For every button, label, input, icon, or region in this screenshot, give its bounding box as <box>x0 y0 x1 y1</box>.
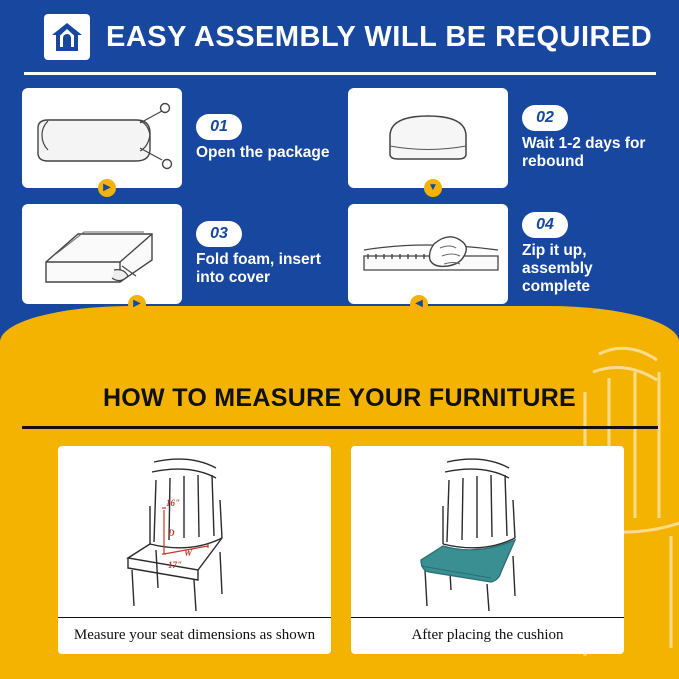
step-04-number: 04 <box>522 212 568 238</box>
step-03-text: 03 Fold foam, insert into cover <box>182 204 332 304</box>
measure-panel-2: After placing the cushion <box>351 446 624 654</box>
step-03-number: 03 <box>196 221 242 247</box>
measure-divider <box>22 426 658 429</box>
assembly-header: EASY ASSEMBLY WILL BE REQUIRED <box>44 14 649 60</box>
step-02-text: 02 Wait 1-2 days for rebound <box>508 88 658 188</box>
step-02-label: Wait 1-2 days for rebound <box>522 135 658 171</box>
step-04: ◀ 04 Zip it up, assembly complete <box>348 204 658 304</box>
infographic-page: EASY ASSEMBLY WILL BE REQUIRED ▶ <box>0 0 679 679</box>
svg-text:D: D <box>167 528 175 538</box>
page-title: EASY ASSEMBLY WILL BE REQUIRED <box>106 21 652 54</box>
step-04-label: Zip it up, assembly complete <box>522 242 658 295</box>
step-01-label: Open the package <box>196 144 332 162</box>
measure-panel-1-art: 16" D W 17" <box>58 446 331 617</box>
header-divider <box>24 72 656 75</box>
step-03-label: Fold foam, insert into cover <box>196 251 332 287</box>
step-01-image: ▶ <box>22 88 182 188</box>
step-02-image: ▼ <box>348 88 508 188</box>
svg-text:W: W <box>184 548 193 558</box>
step-01-number: 01 <box>196 114 242 140</box>
step-01-text: 01 Open the package <box>182 88 332 188</box>
assembly-steps: ▶ 01 Open the package ▼ 02 <box>22 88 658 304</box>
measure-panel-2-art <box>351 446 624 617</box>
step-01-arrow-icon: ▶ <box>98 179 116 197</box>
measure-panel-2-caption: After placing the cushion <box>405 618 569 654</box>
measure-panel-1-caption: Measure your seat dimensions as shown <box>68 618 321 654</box>
step-02-number: 02 <box>522 105 568 131</box>
measure-panels: 16" D W 17" Measure your seat dimensions… <box>58 446 624 654</box>
svg-text:16": 16" <box>166 498 180 508</box>
step-03-image: ▶ <box>22 204 182 304</box>
step-02-arrow-icon: ▼ <box>424 179 442 197</box>
step-02: ▼ 02 Wait 1-2 days for rebound <box>348 88 658 188</box>
assembly-section: EASY ASSEMBLY WILL BE REQUIRED ▶ <box>0 0 679 340</box>
step-04-arrow-icon: ◀ <box>410 295 428 313</box>
measure-title: HOW TO MEASURE YOUR FURNITURE <box>0 384 679 413</box>
step-03-arrow-icon: ▶ <box>128 295 146 313</box>
measure-panel-1: 16" D W 17" Measure your seat dimensions… <box>58 446 331 654</box>
step-03: ▶ 03 Fold foam, insert into cover <box>22 204 332 304</box>
step-01: ▶ 01 Open the package <box>22 88 332 188</box>
home-icon <box>44 14 90 60</box>
measure-section: HOW TO MEASURE YOUR FURNITURE <box>0 306 679 679</box>
step-04-image: ◀ <box>348 204 508 304</box>
step-04-text: 04 Zip it up, assembly complete <box>508 204 658 304</box>
svg-text:17": 17" <box>168 560 182 570</box>
